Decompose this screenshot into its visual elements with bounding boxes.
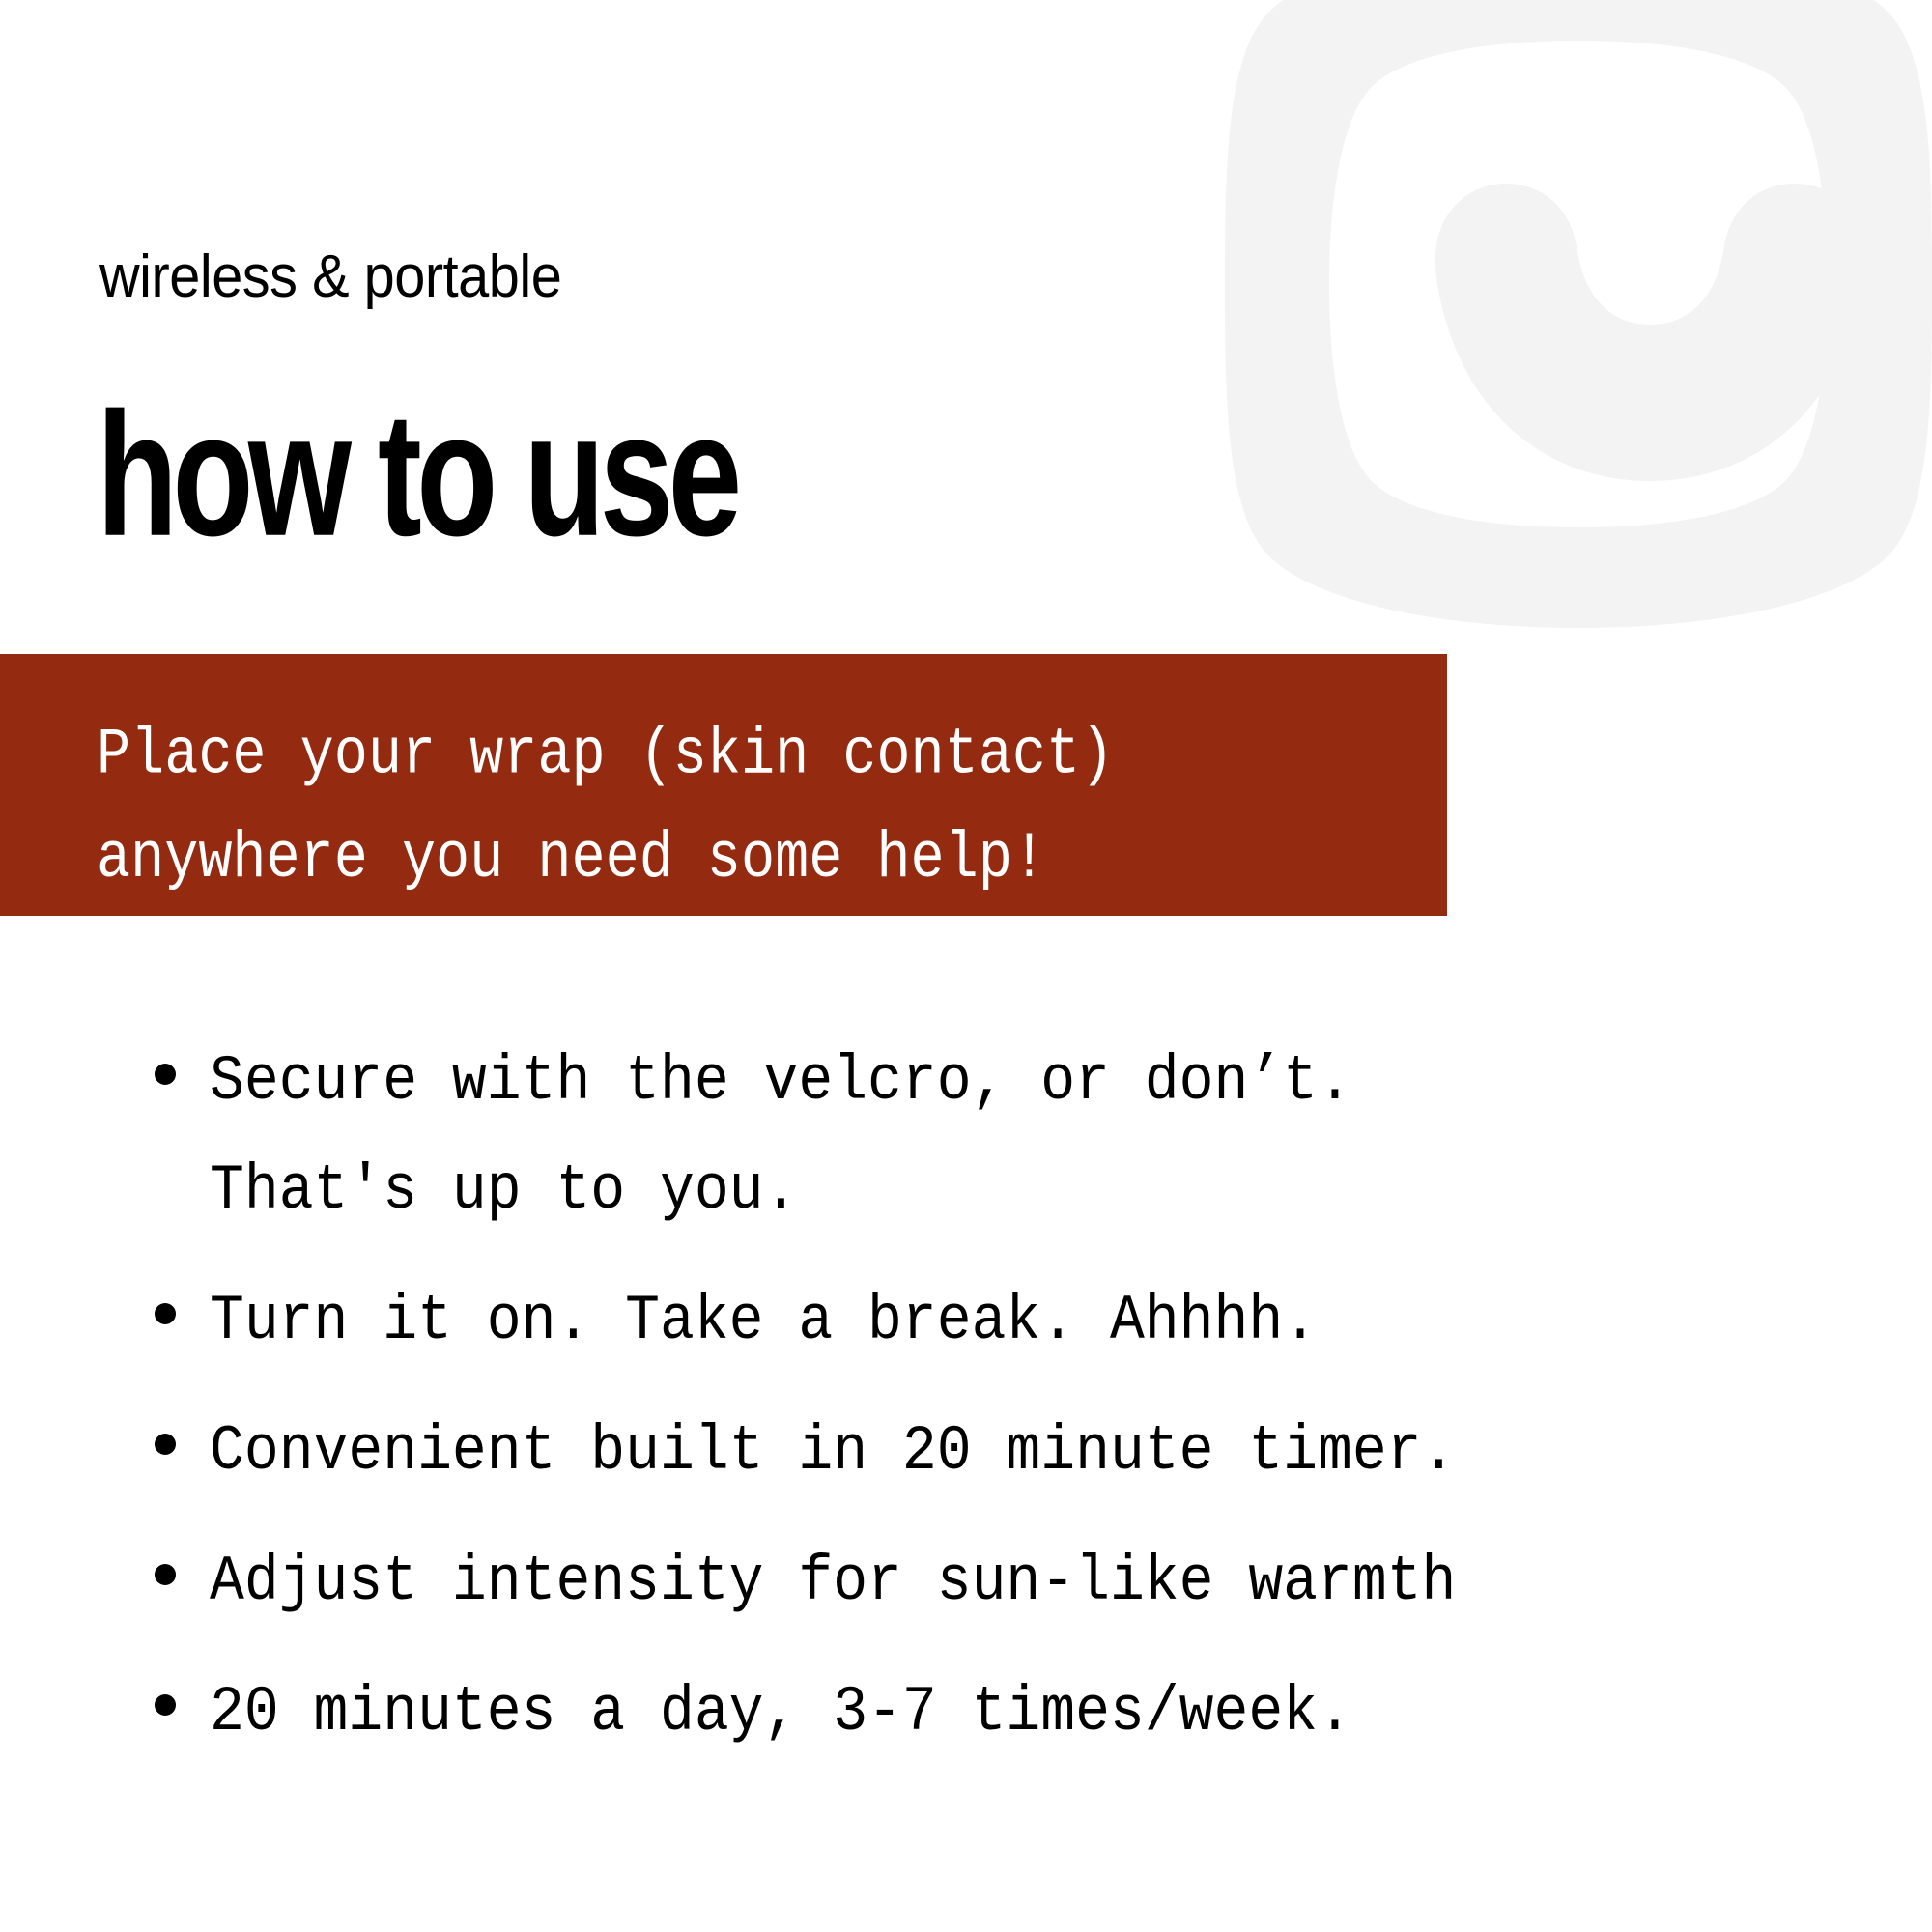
list-item-label: Secure with the velcro, or don’t. That's… xyxy=(210,1027,1751,1245)
brand-watermark xyxy=(1225,0,1932,628)
instructions-list: Secure with the velcro, or don’t. That's… xyxy=(155,1027,1913,1788)
list-item: Convenient built in 20 minute timer. xyxy=(155,1397,1913,1506)
callout-banner-text: Place your wrap (skin contact) anywhere … xyxy=(97,704,1279,911)
bullet-dot-icon xyxy=(155,1303,176,1324)
bullet-dot-icon xyxy=(155,1694,176,1716)
list-item: Adjust intensity for sun-like warmth xyxy=(155,1527,1913,1636)
bullet-dot-icon xyxy=(155,1434,176,1455)
how-to-use-card: wireless & portable how to use Place you… xyxy=(0,0,1932,1932)
list-item-label: Turn it on. Take a break. Ahhhh. xyxy=(210,1266,1751,1376)
bullet-dot-icon xyxy=(155,1564,176,1585)
list-item-label: Adjust intensity for sun-like warmth xyxy=(210,1527,1751,1636)
list-item: Secure with the velcro, or don’t. That's… xyxy=(155,1027,1913,1245)
list-item: 20 minutes a day, 3-7 times/week. xyxy=(155,1658,1913,1767)
callout-banner: Place your wrap (skin contact) anywhere … xyxy=(0,654,1447,916)
list-item-label: 20 minutes a day, 3-7 times/week. xyxy=(210,1658,1751,1767)
page-title: how to use xyxy=(97,386,737,562)
list-item-label: Convenient built in 20 minute timer. xyxy=(210,1397,1751,1506)
brand-smile-logo-icon xyxy=(1225,0,1932,628)
eyebrow-text: wireless & portable xyxy=(99,247,561,307)
list-item: Turn it on. Take a break. Ahhhh. xyxy=(155,1266,1913,1376)
bullet-dot-icon xyxy=(155,1064,176,1085)
